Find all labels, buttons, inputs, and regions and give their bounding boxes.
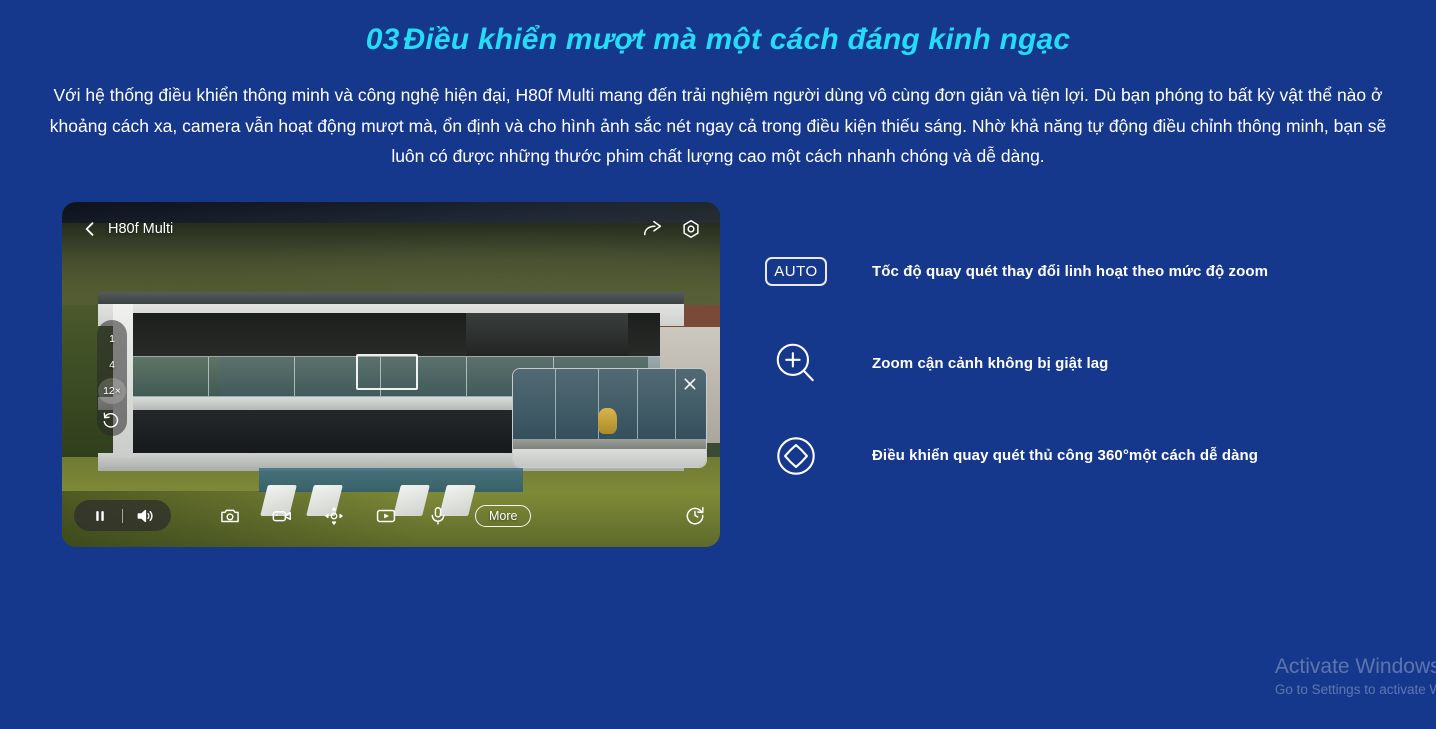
auto-badge-icon: AUTO [768, 247, 824, 297]
zoom-in-magnifier-icon [768, 339, 824, 389]
microphone-icon[interactable] [427, 505, 449, 527]
ptz-icon[interactable] [323, 505, 345, 527]
zoom-selection-rectangle [356, 354, 418, 390]
feature-text-ptz: Điều khiển quay quét thủ công 360°một cá… [872, 447, 1258, 464]
watermark-subtitle: Go to Settings to activate Windows. [1275, 681, 1436, 699]
feature-text-auto-speed: Tốc độ quay quét thay đổi linh hoạt theo… [872, 263, 1268, 280]
video-icon[interactable] [271, 505, 293, 527]
pip-floor [513, 439, 706, 449]
content-area: H80f Multi 1 4 12× [0, 202, 1436, 547]
zoom-preview-window[interactable] [512, 368, 707, 468]
section-paragraph: Với hệ thống điều khiển thông minh và cô… [33, 80, 1403, 172]
page-title: 03Điều khiển mượt mà một cách đáng kinh … [0, 0, 1436, 58]
section-number: 03 [366, 23, 400, 56]
zoom-step-12x[interactable]: 12× [98, 378, 126, 404]
camera-app-panel: H80f Multi 1 4 12× [62, 202, 720, 547]
rotate-reset-icon[interactable] [101, 410, 123, 432]
camera-title: H80f Multi [108, 221, 173, 237]
section-title-text: Điều khiển mượt mà một cách đáng kinh ng… [404, 23, 1071, 56]
ptz-directional-icon [768, 431, 824, 481]
feature-row-zoom: Zoom cận cảnh không bị giật lag [768, 339, 1436, 389]
media-control-group [74, 500, 171, 531]
settings-icon[interactable] [680, 218, 702, 240]
windows-activation-watermark: Activate Windows Go to Settings to activ… [1275, 655, 1436, 699]
watermark-title: Activate Windows [1275, 655, 1436, 679]
speaker-icon[interactable] [134, 505, 156, 527]
zoom-level-strip[interactable]: 1 4 12× [97, 320, 127, 436]
camera-icon[interactable] [219, 505, 241, 527]
toolbar-divider [122, 509, 123, 523]
pause-icon[interactable] [89, 505, 111, 527]
feature-row-ptz: Điều khiển quay quét thủ công 360°một cá… [768, 431, 1436, 481]
pip-base [513, 449, 706, 467]
zoom-step-1x[interactable]: 1 [98, 326, 126, 352]
close-icon[interactable] [682, 376, 698, 392]
camera-header: H80f Multi [62, 202, 720, 256]
playback-icon[interactable] [375, 505, 397, 527]
pip-object [598, 408, 617, 433]
camera-toolbar: More [62, 485, 720, 547]
feature-row-auto-speed: AUTO Tốc độ quay quét thay đổi linh hoạt… [768, 247, 1436, 297]
zoom-step-4x[interactable]: 4 [98, 352, 126, 378]
chevron-left-icon[interactable] [80, 219, 100, 239]
feature-text-zoom: Zoom cận cảnh không bị giật lag [872, 355, 1108, 372]
timer-history-icon[interactable] [684, 505, 706, 527]
auto-badge-label: AUTO [765, 257, 826, 286]
camera-header-actions [642, 218, 702, 240]
feature-list: AUTO Tốc độ quay quét thay đổi linh hoạt… [768, 202, 1436, 523]
more-button[interactable]: More [475, 505, 531, 527]
share-icon[interactable] [642, 218, 664, 240]
